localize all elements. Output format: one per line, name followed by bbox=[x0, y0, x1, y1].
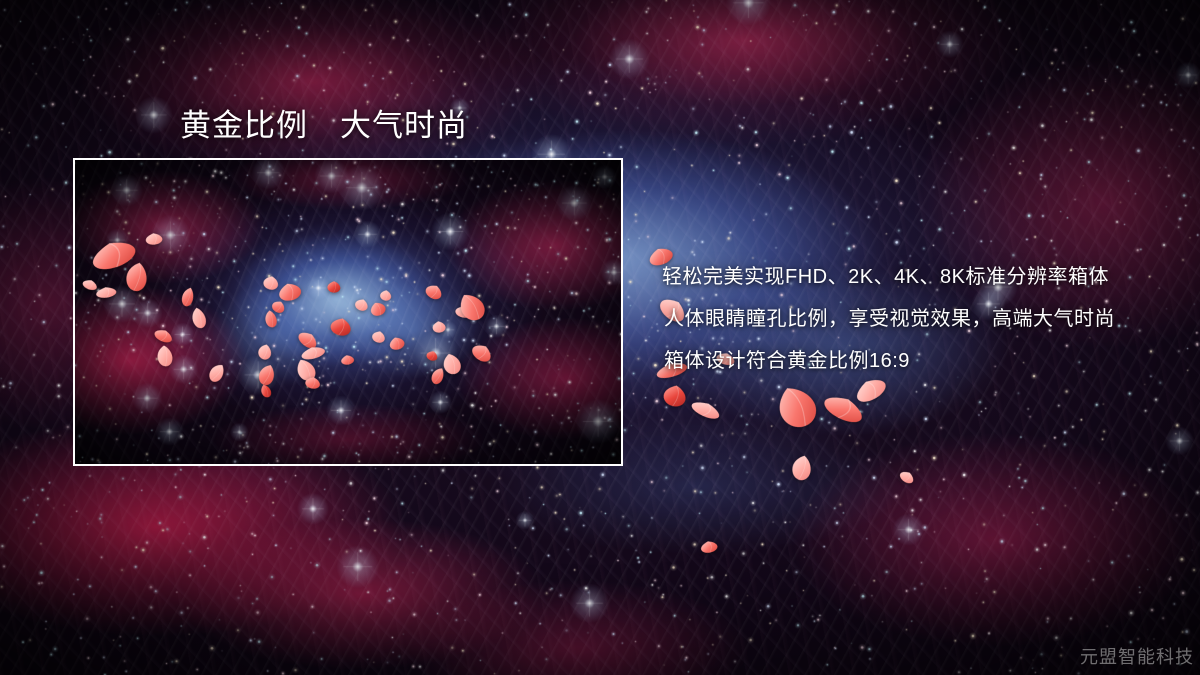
petal bbox=[662, 383, 689, 408]
framed-vignette-overlay bbox=[75, 160, 621, 464]
body-line-1: 轻松完美实现FHD、2K、4K、8K标准分辨率箱体 bbox=[662, 256, 1162, 298]
framed-image-panel bbox=[73, 158, 623, 466]
body-line-3: 箱体设计符合黄金比例16:9 bbox=[664, 340, 1162, 382]
company-watermark: 元盟智能科技 bbox=[1080, 643, 1194, 669]
slide-canvas: 黄金比例 大气时尚 轻松完美实现FHD、2K、4K、8K标准分辨率箱体 人体眼睛… bbox=[0, 0, 1200, 675]
page-title: 黄金比例 大气时尚 bbox=[180, 100, 468, 145]
petal bbox=[819, 390, 868, 428]
petal bbox=[699, 538, 719, 554]
petal bbox=[770, 379, 824, 436]
body-line-2: 人体眼睛瞳孔比例，享受视觉效果，高端大气时尚 bbox=[664, 298, 1162, 340]
petal bbox=[898, 467, 917, 485]
framed-image-content bbox=[75, 160, 621, 464]
body-text-block: 轻松完美实现FHD、2K、4K、8K标准分辨率箱体 人体眼睛瞳孔比例，享受视觉效… bbox=[662, 256, 1162, 382]
petal bbox=[689, 398, 724, 423]
petal bbox=[790, 453, 815, 483]
